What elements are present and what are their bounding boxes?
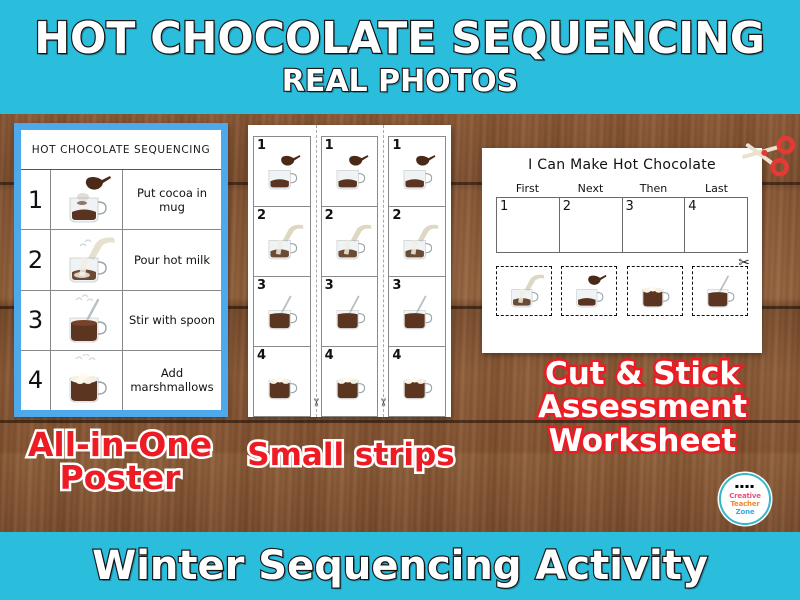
poster-row: 4 Add m bbox=[21, 351, 221, 410]
strip-box: 1 2 3 4 bbox=[388, 136, 446, 417]
poster-rows: 1 Put cocoa in mug 2 bbox=[21, 170, 221, 410]
answer-cell[interactable]: 2 bbox=[560, 198, 623, 252]
stir-spoon-mug-photo[interactable] bbox=[692, 266, 748, 316]
step-number: 4 bbox=[325, 348, 334, 363]
poster-inner: HOT CHOCOLATE SEQUENCING 1 bbox=[21, 130, 221, 410]
poster-canvas: HOT CHOCOLATE SEQUENCING REAL PHOTOS HOT… bbox=[0, 0, 800, 600]
marshmallows-mug-photo bbox=[51, 351, 123, 410]
scissors-icon: ✂ bbox=[309, 398, 322, 407]
step-text: Add marshmallows bbox=[123, 351, 221, 410]
strip-cell: 4 bbox=[254, 347, 310, 416]
step-number: 4 bbox=[21, 351, 51, 410]
column-header-last: Last bbox=[685, 182, 748, 195]
step-number: 2 bbox=[325, 208, 334, 223]
logo-line-2: Teacher bbox=[730, 500, 759, 508]
cut-line bbox=[316, 125, 317, 417]
logo-line-1: Creative bbox=[729, 492, 761, 500]
step-number: 4 bbox=[257, 348, 266, 363]
pouring-milk-mug-photo[interactable] bbox=[496, 266, 552, 316]
answer-cell[interactable]: 1 bbox=[497, 198, 560, 252]
step-number: 4 bbox=[392, 348, 401, 363]
strip-cell: 2 bbox=[389, 207, 445, 277]
pouring-milk-mug-photo bbox=[51, 230, 123, 289]
step-number: 1 bbox=[21, 170, 51, 229]
step-number: 2 bbox=[257, 208, 266, 223]
stir-spoon-mug-photo bbox=[51, 291, 123, 350]
strip-cell: 1 bbox=[254, 137, 310, 207]
step-number: 1 bbox=[392, 138, 401, 153]
cocoa-spoon-mug-photo[interactable] bbox=[561, 266, 617, 316]
step-number: 1 bbox=[325, 138, 334, 153]
strip-cell: 3 bbox=[389, 277, 445, 347]
marshmallows-mug-photo[interactable] bbox=[627, 266, 683, 316]
step-number: 3 bbox=[257, 278, 266, 293]
strip-box: 1 2 3 4 bbox=[321, 136, 379, 417]
callout-cut-and-stick-worksheet: Cut & Stick Assessment Worksheet bbox=[500, 358, 785, 458]
column-header-first: First bbox=[496, 182, 559, 195]
callout-small-strips: Small strips bbox=[236, 440, 466, 471]
page-title: HOT CHOCOLATE SEQUENCING bbox=[35, 15, 766, 63]
cocoa-spoon-mug-photo bbox=[51, 170, 123, 229]
scissors-icon: ✂ bbox=[377, 398, 390, 407]
worksheet-answer-table[interactable]: 1 2 3 4 bbox=[496, 197, 748, 253]
cell-number: 4 bbox=[688, 199, 696, 214]
footer-banner: Winter Sequencing Activity bbox=[0, 532, 800, 600]
step-text: Stir with spoon bbox=[123, 291, 221, 350]
column-header-then: Then bbox=[622, 182, 685, 195]
footer-title: Winter Sequencing Activity bbox=[92, 543, 708, 589]
small-strips-page[interactable]: ✂ ✂ 1 2 3 4 bbox=[248, 125, 451, 417]
strip-cell: 2 bbox=[322, 207, 378, 277]
logo-line-3: Zone bbox=[736, 508, 755, 516]
step-number: 3 bbox=[325, 278, 334, 293]
strip-cell: 2 bbox=[254, 207, 310, 277]
cell-number: 1 bbox=[500, 199, 508, 214]
strip-cell: 1 bbox=[322, 137, 378, 207]
poster-row: 2 Pour hot milk bbox=[21, 230, 221, 290]
worksheet-title: I Can Make Hot Chocolate bbox=[496, 157, 748, 173]
poster-row: 3 Stir with spoon bbox=[21, 291, 221, 351]
strip-cell: 3 bbox=[254, 277, 310, 347]
cut-and-stick-worksheet[interactable]: I Can Make Hot Chocolate First Next Then… bbox=[482, 148, 762, 353]
step-number: 3 bbox=[392, 278, 401, 293]
poster-row: 1 Put cocoa in mug bbox=[21, 170, 221, 230]
creative-teacher-zone-logo[interactable]: ▪▪▪▪ Creative Teacher Zone bbox=[719, 473, 771, 525]
step-number: 2 bbox=[392, 208, 401, 223]
step-text: Put cocoa in mug bbox=[123, 170, 221, 229]
strip-column[interactable]: 1 2 3 4 bbox=[383, 125, 451, 417]
step-text: Pour hot milk bbox=[123, 230, 221, 289]
strip-box: 1 2 3 4 bbox=[253, 136, 311, 417]
strip-cell: 1 bbox=[389, 137, 445, 207]
all-in-one-poster[interactable]: HOT CHOCOLATE SEQUENCING 1 bbox=[14, 123, 228, 417]
strip-cell: 3 bbox=[322, 277, 378, 347]
strip-cell: 4 bbox=[389, 347, 445, 416]
cell-number: 3 bbox=[626, 199, 634, 214]
cell-number: 2 bbox=[563, 199, 571, 214]
poster-title: HOT CHOCOLATE SEQUENCING bbox=[21, 130, 221, 170]
worksheet-cutouts: ✂ bbox=[496, 266, 748, 316]
worksheet-headers: First Next Then Last bbox=[496, 182, 748, 195]
header-banner: HOT CHOCOLATE SEQUENCING REAL PHOTOS bbox=[0, 0, 800, 114]
strip-cell: 4 bbox=[322, 347, 378, 416]
page-subtitle: REAL PHOTOS bbox=[282, 65, 519, 99]
logo-dots: ▪▪▪▪ bbox=[735, 483, 755, 491]
column-header-next: Next bbox=[559, 182, 622, 195]
strip-column[interactable]: 1 2 3 4 bbox=[316, 125, 384, 417]
answer-cell[interactable]: 4 bbox=[685, 198, 747, 252]
step-number: 2 bbox=[21, 230, 51, 289]
step-number: 3 bbox=[21, 291, 51, 350]
callout-all-in-one-poster: All-in-One Poster bbox=[20, 428, 220, 494]
scissors-icon: ✂ bbox=[738, 254, 750, 271]
answer-cell[interactable]: 3 bbox=[623, 198, 686, 252]
strip-column[interactable]: 1 2 3 4 bbox=[248, 125, 316, 417]
cut-line bbox=[383, 125, 384, 417]
step-number: 1 bbox=[257, 138, 266, 153]
